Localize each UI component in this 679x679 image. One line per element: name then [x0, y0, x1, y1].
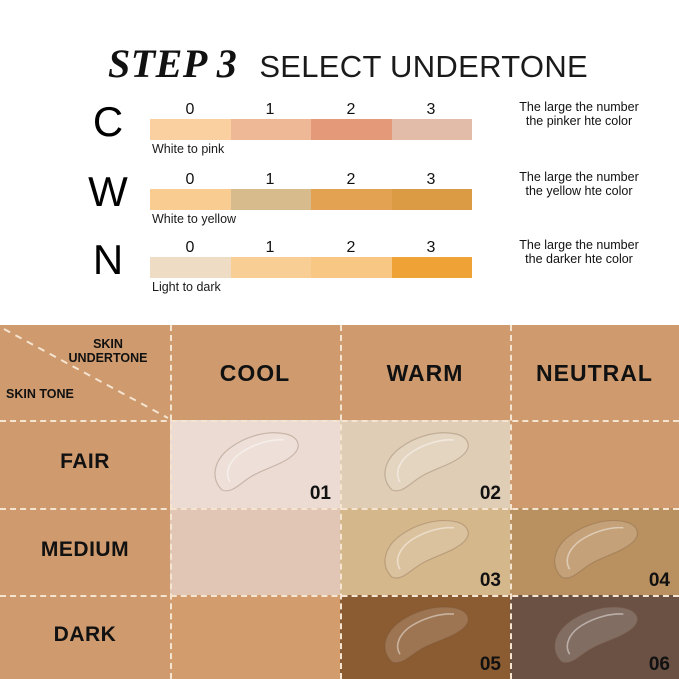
row-header-label: MEDIUM	[0, 538, 170, 562]
page-title: STEP 3 SELECT UNDERTONE	[108, 44, 588, 86]
column-header-cool: COOL	[170, 325, 340, 420]
scale-letter-c: C	[86, 100, 130, 144]
scale-caption-w: White to yellow	[152, 212, 236, 226]
shade-number: 06	[649, 654, 670, 676]
row-header-label: FAIR	[0, 450, 170, 474]
grid-line-vertical	[510, 325, 512, 679]
column-header-label: WARM	[340, 360, 510, 387]
scale-swatch	[231, 189, 312, 210]
scale-note-c: The large the number the pinker hte colo…	[484, 101, 674, 128]
corner-undertone-line2: UNDERTONE	[52, 351, 164, 365]
scale-swatch	[392, 257, 473, 278]
shade-number: 04	[649, 570, 670, 592]
scale-swatch	[231, 119, 312, 140]
scale-tick: 2	[311, 238, 391, 257]
scale-tick: 3	[391, 100, 471, 119]
scale-tick: 1	[230, 170, 310, 189]
row-header-label: DARK	[0, 623, 170, 647]
page-title-text: SELECT UNDERTONE	[259, 47, 588, 87]
shade-cell-05[interactable]: 05	[340, 595, 510, 679]
grid-line-vertical	[170, 325, 172, 679]
scale-note-n: The large the number the darker hte colo…	[484, 239, 674, 266]
grid-line-horizontal	[0, 595, 679, 597]
scale-swatch	[150, 189, 231, 210]
scale-swatch	[392, 189, 473, 210]
column-header-warm: WARM	[340, 325, 510, 420]
undertone-scale-cool: C 0 1 2 3 White to pink The large the nu…	[0, 100, 679, 162]
shade-cell-04[interactable]: 04	[510, 508, 679, 595]
shade-cell-01[interactable]: 01	[170, 420, 340, 508]
scale-letter-n: N	[86, 238, 130, 282]
undertone-scale-neutral: N 0 1 2 3 Light to dark The large the nu…	[0, 238, 679, 300]
shade-number: 02	[480, 483, 501, 505]
undertone-guide-section: STEP 3 SELECT UNDERTONE C 0 1 2 3 White …	[0, 0, 679, 325]
shade-cell-03[interactable]: 03	[340, 508, 510, 595]
scale-note-line: The large the number	[484, 171, 674, 185]
scale-swatch	[150, 119, 231, 140]
scale-tick: 0	[150, 170, 230, 189]
scale-swatch	[311, 119, 392, 140]
scale-tick: 3	[391, 238, 471, 257]
scale-swatch-bar-c	[150, 119, 472, 140]
scale-swatch-bar-w	[150, 189, 472, 210]
scale-tick: 1	[230, 238, 310, 257]
corner-tone-label: SKIN TONE	[6, 387, 74, 401]
scale-note-line: The large the number	[484, 239, 674, 253]
scale-note-line: the yellow hte color	[484, 185, 674, 199]
grid-line-horizontal	[0, 420, 679, 422]
row-header-fair: FAIR	[0, 420, 170, 508]
scale-caption-c: White to pink	[152, 142, 224, 156]
grid-line-vertical	[340, 325, 342, 679]
scale-swatch	[392, 119, 473, 140]
scale-swatch-bar-n	[150, 257, 472, 278]
scale-swatch	[311, 257, 392, 278]
scale-tick: 0	[150, 238, 230, 257]
shade-cell-06[interactable]: 06	[510, 595, 679, 679]
scale-ticks-n: 0 1 2 3	[150, 238, 472, 257]
shade-cell-02[interactable]: 02	[340, 420, 510, 508]
matrix-corner-cell: SKIN UNDERTONE SKIN TONE	[0, 325, 170, 420]
shade-number: 03	[480, 570, 501, 592]
scale-tick: 2	[311, 100, 391, 119]
corner-undertone-line1: SKIN	[52, 337, 164, 351]
shade-cell-dark-cool[interactable]	[170, 595, 340, 679]
step-label: STEP 3	[108, 44, 237, 84]
scale-bar-c: 0 1 2 3	[150, 100, 472, 140]
scale-note-line: the pinker hte color	[484, 115, 674, 129]
scale-letter-w: W	[86, 170, 130, 214]
scale-tick: 0	[150, 100, 230, 119]
scale-bar-w: 0 1 2 3	[150, 170, 472, 210]
scale-note-line: The large the number	[484, 101, 674, 115]
scale-tick: 1	[230, 100, 310, 119]
shade-cell-medium-cool[interactable]	[170, 508, 340, 595]
row-header-dark: DARK	[0, 595, 170, 679]
corner-undertone-label: SKIN UNDERTONE	[52, 337, 164, 365]
scale-swatch	[231, 257, 312, 278]
scale-caption-n: Light to dark	[152, 280, 221, 294]
scale-swatch	[311, 189, 392, 210]
grid-line-horizontal	[0, 508, 679, 510]
shade-cell-fair-neutral[interactable]	[510, 420, 679, 508]
row-header-medium: MEDIUM	[0, 508, 170, 595]
scale-bar-n: 0 1 2 3	[150, 238, 472, 278]
scale-note-w: The large the number the yellow hte colo…	[484, 171, 674, 198]
scale-tick: 3	[391, 170, 471, 189]
shade-number: 01	[310, 483, 331, 505]
scale-tick: 2	[311, 170, 391, 189]
scale-note-line: the darker hte color	[484, 253, 674, 267]
shade-matrix-table: SKIN UNDERTONE SKIN TONE COOL WARM NEUTR…	[0, 325, 679, 679]
column-header-label: COOL	[170, 360, 340, 387]
scale-ticks-w: 0 1 2 3	[150, 170, 472, 189]
column-header-label: NEUTRAL	[510, 360, 679, 387]
scale-swatch	[150, 257, 231, 278]
undertone-scale-warm: W 0 1 2 3 White to yellow The large the …	[0, 170, 679, 232]
shade-number: 05	[480, 654, 501, 676]
scale-ticks-c: 0 1 2 3	[150, 100, 472, 119]
column-header-neutral: NEUTRAL	[510, 325, 679, 420]
